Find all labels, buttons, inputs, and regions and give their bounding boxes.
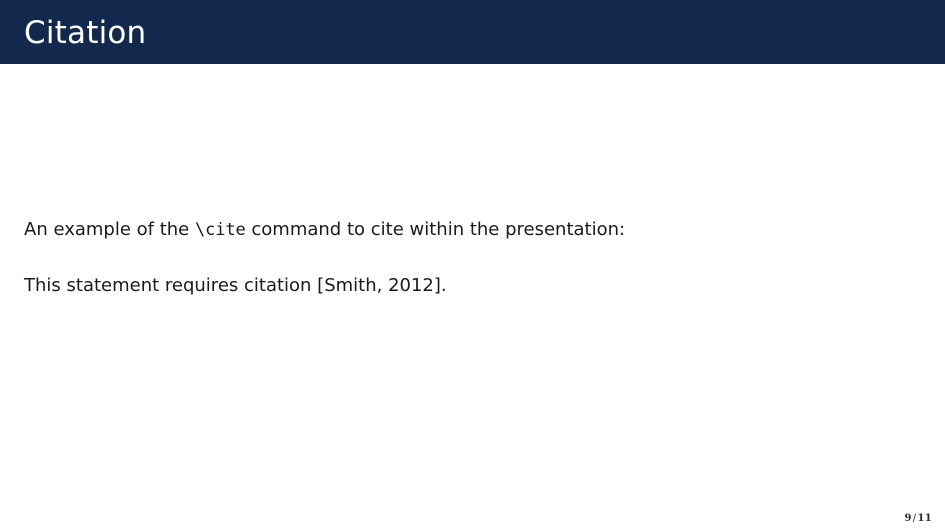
presentation-slide: Citation An example of the \cite command… xyxy=(0,0,945,532)
slide-body: An example of the \cite command to cite … xyxy=(0,64,945,532)
current-page-number: 9 xyxy=(905,513,912,524)
paragraph-citation-example: This statement requires citation [Smith,… xyxy=(24,274,447,298)
paragraph-text-after-code: command to cite within the presentation: xyxy=(246,219,625,240)
page-title: Citation xyxy=(24,14,146,52)
latex-cite-command-code: \cite xyxy=(195,220,246,240)
paragraph-cite-command-intro: An example of the \cite command to cite … xyxy=(24,218,625,242)
paragraph-text-before-code: An example of the xyxy=(24,219,195,240)
page-number-indicator: 9/11 xyxy=(905,513,932,524)
slide-title-bar: Citation xyxy=(0,0,945,64)
total-page-count: 11 xyxy=(917,513,932,524)
